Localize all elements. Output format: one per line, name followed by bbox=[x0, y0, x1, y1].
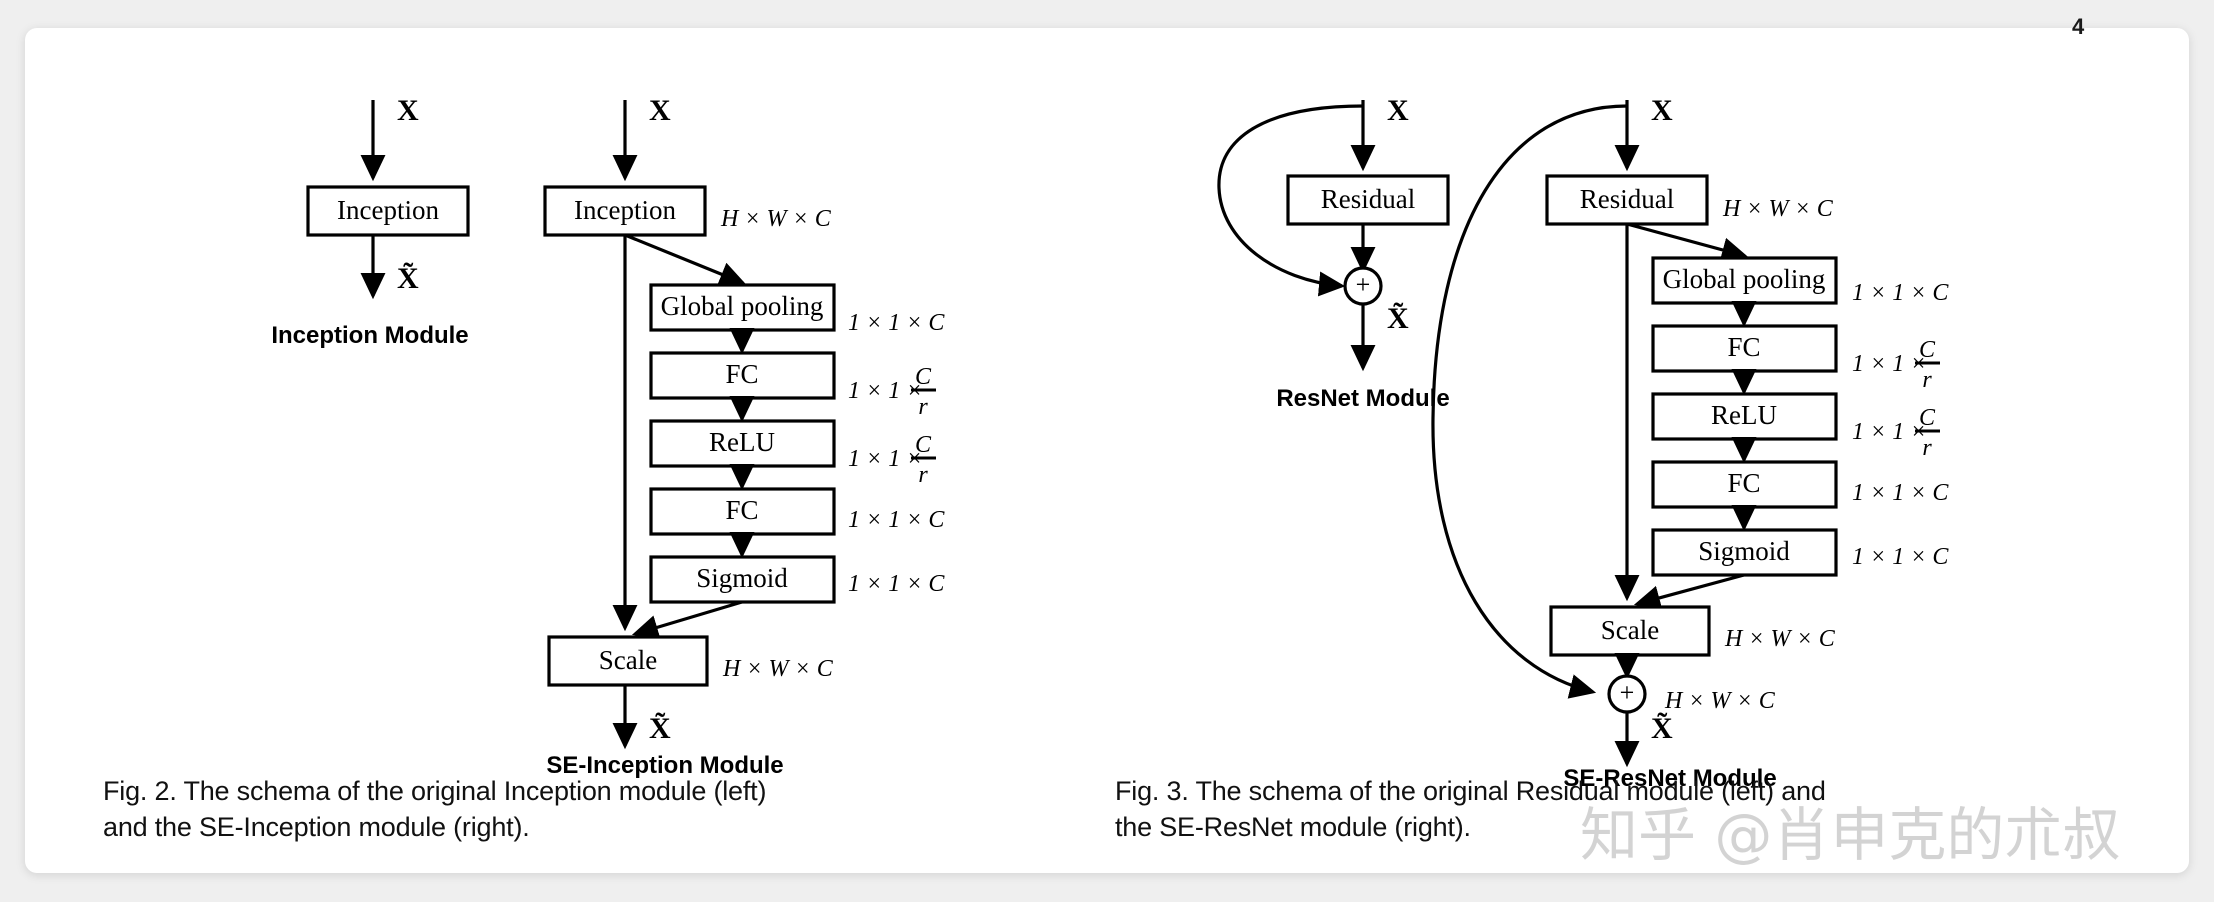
dim-label-global-pooling: 1 × 1 × C bbox=[1852, 280, 1949, 306]
svg-text:1 × 1 × C: 1 × 1 × C bbox=[848, 507, 945, 533]
diagram-se-inception-module: X Inception H × W × C Global pooling 1 ×… bbox=[545, 94, 945, 779]
dim-label-sigmoid: 1 × 1 × C bbox=[1852, 544, 1949, 570]
dim-label-relu: 1 × 1 × C r bbox=[1852, 405, 1940, 461]
block-residual-label: Residual bbox=[1321, 184, 1416, 214]
block-scale-label: Scale bbox=[1601, 615, 1659, 645]
dim-label-sigmoid: 1 × 1 × C bbox=[848, 571, 945, 597]
se-inception-input-symbol-x: X bbox=[649, 94, 671, 127]
svg-text:r: r bbox=[1922, 367, 1932, 393]
block-global-pooling-label: Global pooling bbox=[1663, 264, 1826, 294]
output-symbol-x-tilde: X̃ bbox=[397, 262, 419, 295]
dim-label-fc-1: 1 × 1 × C r bbox=[848, 364, 936, 420]
page-number: 4 bbox=[2072, 14, 2084, 40]
operator-add-label: + bbox=[1356, 270, 1371, 299]
svg-text:C: C bbox=[915, 364, 932, 390]
dim-label-add: H × W × C bbox=[1664, 688, 1776, 714]
diagram-title-resnet-module: ResNet Module bbox=[1276, 385, 1449, 412]
svg-text:r: r bbox=[918, 462, 928, 488]
resnet-output-symbol-x-tilde: X̃ bbox=[1387, 302, 1409, 335]
svg-text:C: C bbox=[1919, 405, 1936, 431]
block-relu-label: ReLU bbox=[709, 427, 775, 457]
dim-label-fc-1: 1 × 1 × C r bbox=[1852, 337, 1940, 393]
block-global-pooling-label: Global pooling bbox=[661, 291, 824, 321]
svg-text:C: C bbox=[915, 432, 932, 458]
dim-label-fc-2: 1 × 1 × C bbox=[848, 507, 945, 533]
block-residual-label: Residual bbox=[1580, 184, 1675, 214]
block-fc-2-label: FC bbox=[1727, 468, 1760, 498]
block-inception-label: Inception bbox=[574, 195, 676, 225]
svg-text:r: r bbox=[1922, 435, 1932, 461]
dim-label-scale: H × W × C bbox=[1724, 626, 1836, 652]
svg-text:r: r bbox=[918, 394, 928, 420]
block-fc-1-label: FC bbox=[725, 359, 758, 389]
block-scale-label: Scale bbox=[599, 645, 657, 675]
svg-text:1 × 1 × C: 1 × 1 × C bbox=[848, 310, 945, 336]
block-fc-1-label: FC bbox=[1727, 332, 1760, 362]
diagram-se-resnet-module: X Residual H × W × C Global pooling 1 × … bbox=[1433, 94, 1949, 792]
block-inception-label: Inception bbox=[337, 195, 439, 225]
dim-label-fc-2: 1 × 1 × C bbox=[1852, 480, 1949, 506]
svg-text:1 × 1 × C: 1 × 1 × C bbox=[1852, 544, 1949, 570]
block-fc-2-label: FC bbox=[725, 495, 758, 525]
dim-label-relu: 1 × 1 × C r bbox=[848, 432, 936, 488]
diagram-inception-module: X Inception X̃ Inception Module bbox=[271, 94, 468, 349]
dim-label-scale: H × W × C bbox=[722, 656, 834, 682]
block-sigmoid-label: Sigmoid bbox=[696, 563, 788, 593]
input-symbol-x: X bbox=[397, 94, 419, 127]
svg-text:1 × 1 × C: 1 × 1 × C bbox=[1852, 280, 1949, 306]
svg-text:1 × 1 × C: 1 × 1 × C bbox=[848, 571, 945, 597]
figure-2-caption: Fig. 2. The schema of the original Incep… bbox=[103, 773, 803, 845]
svg-text:1 × 1 × C: 1 × 1 × C bbox=[1852, 480, 1949, 506]
figure-3-caption: Fig. 3. The schema of the original Resid… bbox=[1115, 773, 1835, 845]
svg-text:C: C bbox=[1919, 337, 1936, 363]
se-inception-output-symbol-x-tilde: X̃ bbox=[649, 712, 671, 745]
dim-label-residual: H × W × C bbox=[1722, 196, 1834, 222]
paper-page-card: X Inception X̃ Inception Module X Incept… bbox=[25, 28, 2189, 873]
se-resnet-input-symbol-x: X bbox=[1651, 94, 1673, 127]
operator-add-label: + bbox=[1620, 678, 1635, 707]
figures-canvas: X Inception X̃ Inception Module X Incept… bbox=[25, 28, 2189, 873]
block-relu-label: ReLU bbox=[1711, 400, 1777, 430]
diagram-title-inception-module: Inception Module bbox=[271, 322, 468, 349]
block-sigmoid-label: Sigmoid bbox=[1698, 536, 1790, 566]
diagram-resnet-module: X Residual + X̃ ResNet Module bbox=[1219, 94, 1450, 412]
dim-label-global-pooling: 1 × 1 × C bbox=[848, 310, 945, 336]
se-resnet-output-symbol-x-tilde: X̃ bbox=[1651, 712, 1673, 745]
resnet-input-symbol-x: X bbox=[1387, 94, 1409, 127]
dim-label-inception: H × W × C bbox=[720, 206, 832, 232]
